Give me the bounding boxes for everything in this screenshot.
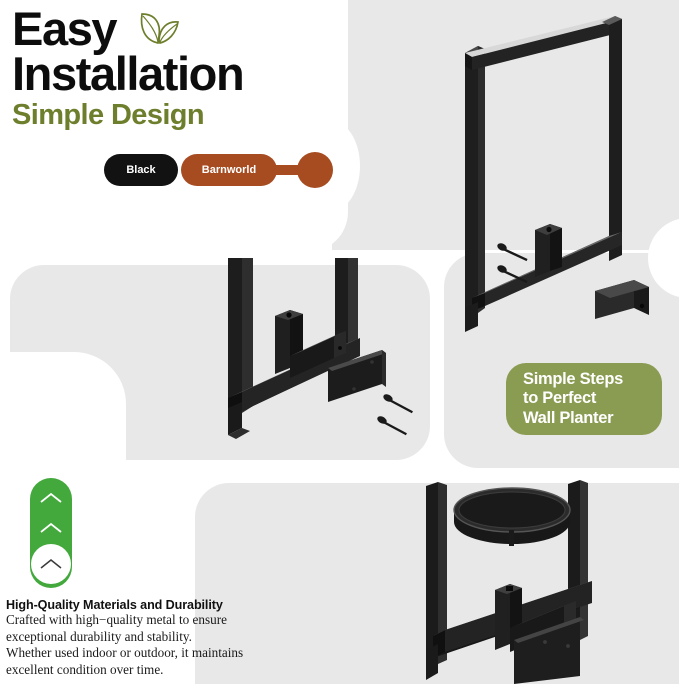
cta-line-3: Wall Planter: [523, 409, 662, 429]
wall-planter-frame-illustration: [430, 8, 679, 348]
feature-body-line-4: excellent condition over time.: [6, 662, 326, 679]
wall-planter-base-illustration: [120, 258, 430, 458]
swatch-black[interactable]: Black: [104, 154, 178, 186]
swatch-barnworld[interactable]: Barnworld: [181, 154, 277, 186]
feature-title: High-Quality Materials and Durability: [6, 598, 326, 612]
feature-body-line-3: Whether used indoor or outdoor, it maint…: [6, 645, 326, 662]
leaf-icon: [138, 10, 182, 51]
page-title: Easy Installation Simple Design: [12, 6, 243, 132]
headline-line-2: Installation: [12, 51, 243, 96]
swatch-barnworld-label: Barnworld: [202, 164, 256, 176]
swatch-barnworld-dot[interactable]: [297, 152, 333, 188]
headline-line-1: Easy: [12, 6, 243, 51]
cta-line-1: Simple Steps: [523, 370, 662, 390]
feature-description-block: High-Quality Materials and Durability Cr…: [6, 598, 326, 679]
chevron-up-icon: [39, 522, 63, 534]
scroll-indicator-stack[interactable]: [30, 478, 72, 588]
chevron-up-icon: [39, 492, 63, 504]
cta-badge[interactable]: Simple Steps to Perfect Wall Planter: [506, 363, 662, 435]
infographic-page: Easy Installation Simple Design Black Ba…: [0, 0, 679, 684]
color-swatch-group: Black Barnworld: [104, 152, 333, 188]
headline-subtitle: Simple Design: [12, 99, 243, 132]
feature-body-line-1: Crafted with high−quality metal to ensur…: [6, 612, 326, 629]
panel-middle-left-notch: [0, 352, 126, 472]
feature-body-line-2: exceptional durability and stability.: [6, 629, 326, 646]
chevron-up-icon: [39, 558, 63, 570]
wall-planter-tray-illustration: [400, 468, 679, 684]
cta-line-2: to Perfect: [523, 389, 662, 409]
swatch-black-label: Black: [126, 164, 155, 176]
